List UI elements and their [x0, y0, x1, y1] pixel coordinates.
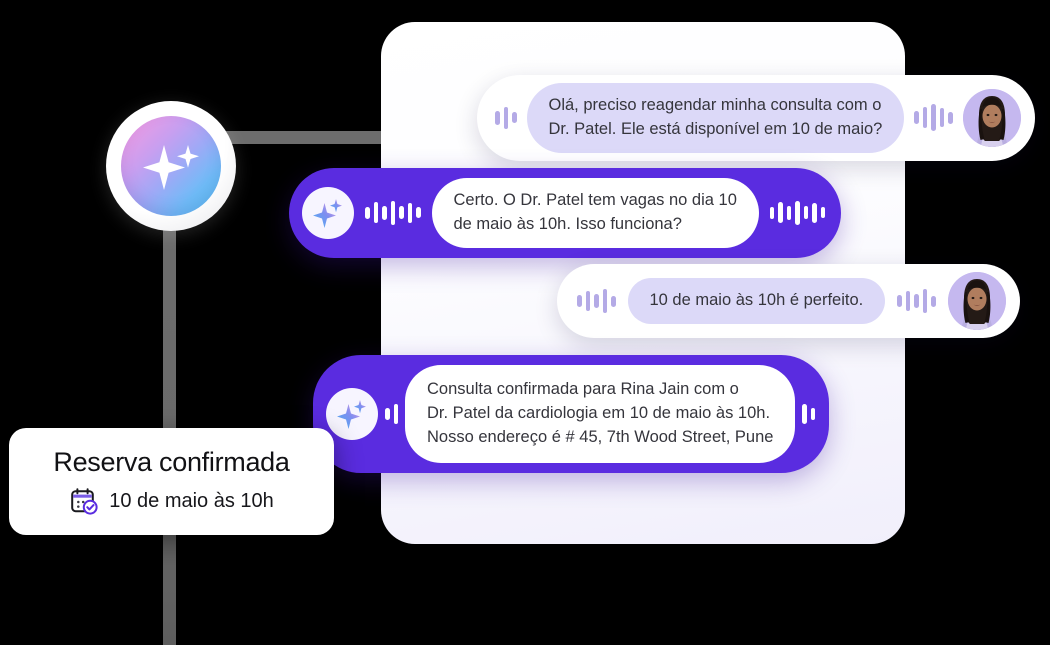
booking-datetime-row: 10 de maio às 10h [69, 486, 274, 516]
avatar[interactable] [963, 89, 1021, 147]
audio-waveform-icon[interactable] [495, 107, 517, 129]
message-capsule-1[interactable]: Olá, preciso reagendar minha consulta co… [477, 75, 1035, 161]
ai-sparkle-badge [326, 388, 378, 440]
message-capsule-4[interactable]: Consulta confirmada para Rina Jain com o… [313, 355, 829, 473]
audio-waveform-icon[interactable] [770, 201, 826, 225]
chat-row-3: 10 de maio às 10h é perfeito. [557, 264, 1020, 338]
avatar[interactable] [948, 272, 1006, 330]
ai-node-gradient-orb [121, 116, 221, 216]
booking-title: Reserva confirmada [53, 447, 289, 478]
message-text-1: Olá, preciso reagendar minha consulta co… [527, 83, 905, 153]
message-text-4: Consulta confirmada para Rina Jain com o… [405, 365, 795, 463]
ai-assistant-node[interactable] [106, 101, 236, 231]
ai-sparkle-icon [335, 397, 369, 431]
audio-waveform-icon[interactable] [897, 289, 936, 313]
booking-confirmation-card[interactable]: Reserva confirmada 10 de maio às 10h [9, 428, 334, 535]
audio-waveform-icon[interactable] [385, 404, 398, 424]
audio-waveform-icon[interactable] [365, 201, 421, 225]
user-avatar-image [948, 272, 1006, 330]
message-capsule-3[interactable]: 10 de maio às 10h é perfeito. [557, 264, 1020, 338]
chat-row-1: Olá, preciso reagendar minha consulta co… [477, 75, 1035, 161]
ai-sparkle-badge [302, 187, 354, 239]
message-text-3: 10 de maio às 10h é perfeito. [628, 278, 886, 324]
calendar-check-icon [69, 486, 99, 516]
sparkle-icon [130, 125, 212, 207]
chat-row-4: Consulta confirmada para Rina Jain com o… [313, 355, 829, 473]
scene-root: Olá, preciso reagendar minha consulta co… [0, 0, 1050, 645]
message-text-2: Certo. O Dr. Patel tem vagas no dia 10 d… [432, 178, 759, 248]
booking-datetime-text: 10 de maio às 10h [109, 490, 274, 513]
ai-sparkle-icon [311, 196, 345, 230]
user-avatar-image [963, 89, 1021, 147]
audio-waveform-icon[interactable] [802, 404, 815, 424]
connector-line-vertical [163, 170, 176, 645]
audio-waveform-icon[interactable] [914, 104, 953, 131]
chat-row-2: Certo. O Dr. Patel tem vagas no dia 10 d… [289, 168, 841, 258]
message-capsule-2[interactable]: Certo. O Dr. Patel tem vagas no dia 10 d… [289, 168, 841, 258]
audio-waveform-icon[interactable] [577, 289, 616, 313]
